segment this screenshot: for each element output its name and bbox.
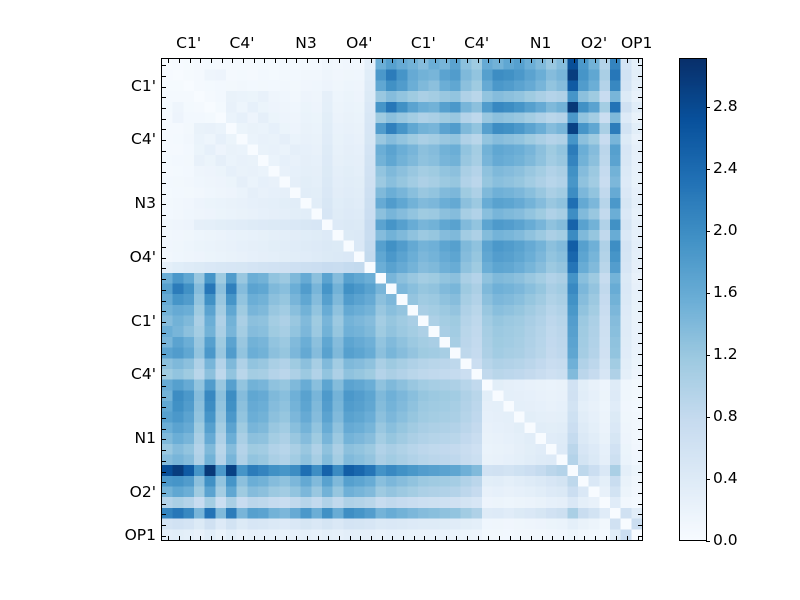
y-tick-left [162, 258, 166, 259]
x-tick-bottom [190, 536, 191, 540]
x-tick-top [264, 59, 265, 63]
y-tick-left [162, 215, 166, 216]
y-tick-left [162, 461, 166, 462]
y-tick-right [638, 97, 642, 98]
x-tick-bottom [211, 536, 212, 540]
y-tick-left [162, 183, 166, 184]
y-axis-tick-label: OP1 [118, 526, 156, 544]
y-tick-left [162, 482, 166, 483]
colorbar-tick [706, 355, 710, 356]
x-tick-bottom [563, 536, 564, 540]
x-tick-top [606, 59, 607, 63]
x-tick-bottom [488, 536, 489, 540]
x-tick-bottom [584, 536, 585, 540]
x-tick-top [627, 59, 628, 63]
x-tick-bottom [350, 536, 351, 540]
x-tick-bottom [595, 536, 596, 540]
y-tick-left [162, 365, 166, 366]
y-axis-tick-label: O4' [118, 248, 156, 266]
y-tick-right [638, 76, 642, 77]
x-tick-top [499, 59, 500, 63]
x-tick-bottom [616, 536, 617, 540]
y-tick-right [638, 386, 642, 387]
y-tick-left [162, 429, 166, 430]
colorbar-tick-label: 2.4 [713, 159, 738, 177]
y-tick-left [162, 247, 166, 248]
x-tick-bottom [286, 536, 287, 540]
x-tick-bottom [360, 536, 361, 540]
y-tick-right [638, 129, 642, 130]
x-tick-top [542, 59, 543, 63]
y-tick-right [638, 536, 642, 537]
x-tick-bottom [403, 536, 404, 540]
y-tick-left [162, 119, 166, 120]
x-tick-top [200, 59, 201, 63]
x-tick-top [360, 59, 361, 63]
x-axis-tick-label: N3 [295, 34, 316, 52]
x-tick-top [520, 59, 521, 63]
y-axis-tick-label: N1 [118, 429, 156, 447]
x-tick-top [232, 59, 233, 63]
x-tick-top [531, 59, 532, 63]
y-tick-right [638, 290, 642, 291]
x-tick-bottom [606, 536, 607, 540]
y-tick-right [638, 450, 642, 451]
x-tick-bottom [232, 536, 233, 540]
x-tick-bottom [531, 536, 532, 540]
x-tick-top [318, 59, 319, 63]
heatmap-axes [161, 58, 643, 541]
x-tick-top [392, 59, 393, 63]
y-tick-left [162, 354, 166, 355]
y-tick-right [638, 151, 642, 152]
y-tick-right [638, 162, 642, 163]
x-tick-bottom [456, 536, 457, 540]
x-tick-bottom [435, 536, 436, 540]
x-axis-tick-label: O4' [346, 34, 372, 52]
x-tick-top [414, 59, 415, 63]
y-tick-left [162, 397, 166, 398]
colorbar-tick-label: 0.8 [713, 407, 738, 425]
y-tick-left [162, 493, 166, 494]
x-tick-top [584, 59, 585, 63]
x-tick-top [446, 59, 447, 63]
y-tick-left [162, 65, 166, 66]
x-tick-top [179, 59, 180, 63]
x-tick-bottom [520, 536, 521, 540]
x-tick-top [254, 59, 255, 63]
x-tick-bottom [318, 536, 319, 540]
figure-canvas: C1'C4'N3O4'C1'C4'N1O2'OP1C1'C4'N3O4'C1'C… [0, 0, 800, 600]
colorbar-tick-label: 1.2 [713, 345, 738, 363]
x-tick-top [211, 59, 212, 63]
y-tick-left [162, 418, 166, 419]
y-tick-left [162, 108, 166, 109]
x-axis-tick-label: N1 [530, 34, 551, 52]
y-tick-left [162, 525, 166, 526]
x-tick-bottom [222, 536, 223, 540]
x-tick-bottom [307, 536, 308, 540]
x-axis-tick-label: C4' [230, 34, 255, 52]
y-tick-right [638, 461, 642, 462]
x-tick-top [190, 59, 191, 63]
y-tick-left [162, 504, 166, 505]
y-tick-right [638, 268, 642, 269]
colorbar-tick-label: 2.0 [713, 221, 738, 239]
x-tick-bottom [275, 536, 276, 540]
y-tick-right [638, 258, 642, 259]
x-tick-bottom [542, 536, 543, 540]
y-tick-left [162, 439, 166, 440]
x-tick-top [371, 59, 372, 63]
y-tick-right [638, 397, 642, 398]
x-tick-bottom [392, 536, 393, 540]
y-tick-left [162, 322, 166, 323]
x-axis-tick-label: C1' [411, 34, 436, 52]
x-tick-bottom [371, 536, 372, 540]
x-tick-top [510, 59, 511, 63]
y-axis-tick-label: C1' [118, 77, 156, 95]
x-tick-top [222, 59, 223, 63]
y-tick-right [638, 375, 642, 376]
y-tick-left [162, 226, 166, 227]
x-tick-top [563, 59, 564, 63]
colorbar-tick [706, 231, 710, 232]
y-tick-right [638, 514, 642, 515]
y-axis-tick-label: O2' [118, 483, 156, 501]
x-axis-tick-label: C1' [176, 34, 201, 52]
x-tick-bottom [339, 536, 340, 540]
y-tick-left [162, 129, 166, 130]
x-tick-top [339, 59, 340, 63]
y-tick-right [638, 279, 642, 280]
y-axis-tick-label: C4' [118, 130, 156, 148]
y-tick-left [162, 236, 166, 237]
y-tick-left [162, 343, 166, 344]
x-tick-bottom [510, 536, 511, 540]
x-tick-top [424, 59, 425, 63]
y-tick-left [162, 290, 166, 291]
colorbar-tick [706, 169, 710, 170]
colorbar-tick [706, 479, 710, 480]
colorbar-tick [706, 541, 710, 542]
y-tick-right [638, 183, 642, 184]
colorbar-tick-label: 1.6 [713, 283, 738, 301]
y-tick-right [638, 354, 642, 355]
y-tick-right [638, 194, 642, 195]
y-tick-left [162, 172, 166, 173]
x-tick-top [595, 59, 596, 63]
x-tick-bottom [499, 536, 500, 540]
y-tick-left [162, 279, 166, 280]
heatmap-image [162, 59, 642, 540]
y-tick-left [162, 268, 166, 269]
y-tick-right [638, 365, 642, 366]
y-tick-left [162, 76, 166, 77]
y-tick-right [638, 236, 642, 237]
colorbar-tick-label: 0.4 [713, 469, 738, 487]
colorbar-tick-label: 2.8 [713, 97, 738, 115]
y-tick-right [638, 333, 642, 334]
y-tick-left [162, 301, 166, 302]
x-tick-top [403, 59, 404, 63]
y-tick-left [162, 194, 166, 195]
x-tick-top [243, 59, 244, 63]
colorbar-tick [706, 107, 710, 108]
x-axis-tick-label: C4' [464, 34, 489, 52]
x-axis-tick-label: O2' [581, 34, 607, 52]
y-tick-right [638, 439, 642, 440]
x-tick-bottom [179, 536, 180, 540]
x-tick-bottom [328, 536, 329, 540]
y-axis-tick-label: C1' [118, 312, 156, 330]
x-tick-bottom [414, 536, 415, 540]
y-tick-left [162, 386, 166, 387]
x-tick-top [350, 59, 351, 63]
y-tick-left [162, 333, 166, 334]
y-tick-left [162, 140, 166, 141]
y-tick-right [638, 215, 642, 216]
y-tick-right [638, 407, 642, 408]
y-tick-right [638, 119, 642, 120]
y-tick-right [638, 525, 642, 526]
y-tick-right [638, 429, 642, 430]
y-tick-right [638, 482, 642, 483]
x-tick-top [168, 59, 169, 63]
x-tick-top [478, 59, 479, 63]
y-tick-right [638, 204, 642, 205]
y-tick-right [638, 418, 642, 419]
x-tick-bottom [254, 536, 255, 540]
x-tick-bottom [478, 536, 479, 540]
y-tick-right [638, 311, 642, 312]
x-tick-top [467, 59, 468, 63]
y-tick-left [162, 162, 166, 163]
x-tick-top [616, 59, 617, 63]
y-tick-left [162, 204, 166, 205]
x-tick-bottom [200, 536, 201, 540]
x-tick-top [275, 59, 276, 63]
x-tick-bottom [382, 536, 383, 540]
y-tick-left [162, 311, 166, 312]
x-tick-top [638, 59, 639, 63]
x-tick-top [296, 59, 297, 63]
x-tick-top [382, 59, 383, 63]
colorbar-axes [679, 58, 707, 541]
x-tick-bottom [296, 536, 297, 540]
x-tick-bottom [243, 536, 244, 540]
y-tick-right [638, 472, 642, 473]
x-tick-bottom [446, 536, 447, 540]
x-tick-bottom [467, 536, 468, 540]
y-tick-left [162, 87, 166, 88]
y-tick-right [638, 247, 642, 248]
x-tick-bottom [424, 536, 425, 540]
x-axis-tick-label: OP1 [621, 34, 652, 52]
y-tick-right [638, 504, 642, 505]
y-tick-right [638, 343, 642, 344]
colorbar-tick [706, 417, 710, 418]
y-tick-right [638, 322, 642, 323]
x-tick-top [328, 59, 329, 63]
y-tick-right [638, 172, 642, 173]
y-tick-right [638, 226, 642, 227]
x-tick-top [286, 59, 287, 63]
x-tick-top [552, 59, 553, 63]
x-tick-top [307, 59, 308, 63]
x-tick-bottom [552, 536, 553, 540]
y-axis-tick-label: N3 [118, 194, 156, 212]
y-tick-right [638, 493, 642, 494]
x-tick-bottom [574, 536, 575, 540]
y-axis-tick-label: C4' [118, 365, 156, 383]
y-tick-left [162, 375, 166, 376]
y-tick-right [638, 65, 642, 66]
y-tick-right [638, 301, 642, 302]
x-tick-top [456, 59, 457, 63]
y-tick-right [638, 140, 642, 141]
y-tick-left [162, 151, 166, 152]
y-tick-left [162, 514, 166, 515]
x-tick-bottom [264, 536, 265, 540]
y-tick-left [162, 536, 166, 537]
y-tick-left [162, 97, 166, 98]
y-tick-right [638, 87, 642, 88]
y-tick-left [162, 407, 166, 408]
colorbar-tick [706, 293, 710, 294]
x-tick-bottom [168, 536, 169, 540]
y-tick-right [638, 108, 642, 109]
colorbar-tick-label: 0.0 [713, 531, 738, 549]
y-tick-left [162, 472, 166, 473]
x-tick-bottom [627, 536, 628, 540]
colorbar-gradient [680, 59, 706, 540]
x-tick-top [435, 59, 436, 63]
y-tick-left [162, 450, 166, 451]
x-tick-top [488, 59, 489, 63]
x-tick-top [574, 59, 575, 63]
